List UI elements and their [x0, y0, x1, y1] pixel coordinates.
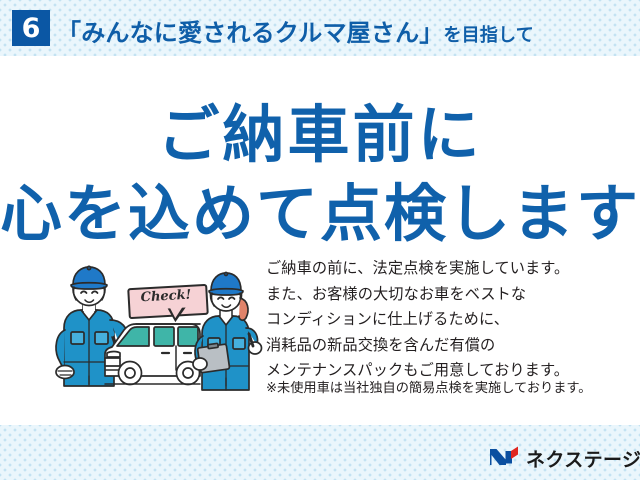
nextage-logo: ネクステージ — [489, 443, 640, 473]
brand-name-label: ネクステージ — [526, 445, 640, 472]
body-line: 消耗品の新品交換を含んだ有償の — [266, 333, 626, 359]
section-number-badge: 6 — [12, 10, 50, 46]
header-tagline-suffix: を目指して — [443, 21, 533, 47]
advertisement-page: 6 「みんなに愛されるクルマ屋さん」 を目指して ご納車前に 心を込めて点検しま… — [0, 0, 640, 480]
speech-bubble-tail-inner — [170, 307, 184, 319]
mechanics-with-van-illustration — [50, 258, 265, 408]
headline-line-2: 心を込めて点検します — [0, 163, 640, 253]
body-paragraph: ご納車の前に、法定点検を実施しています。 また、お客様の大切なお車をベストな コ… — [266, 256, 626, 384]
headline-line-1: ご納車前に — [0, 84, 640, 174]
disclaimer-note: ※未使用車は当社独自の簡易点検を実施しております。 — [266, 380, 636, 398]
body-line: コンディションに仕上げるために、 — [266, 307, 626, 333]
nextage-n-logo-icon — [489, 445, 519, 471]
body-line: また、お客様の大切なお車をベストな — [266, 282, 626, 308]
check-speech-bubble: Check! — [128, 286, 204, 320]
header-tagline: 「みんなに愛されるクルマ屋さん」 を目指して — [57, 13, 534, 45]
body-line: ご納車の前に、法定点検を実施しています。 — [266, 256, 626, 282]
header-tagline-quoted: 「みんなに愛されるクルマ屋さん」 — [57, 13, 443, 48]
